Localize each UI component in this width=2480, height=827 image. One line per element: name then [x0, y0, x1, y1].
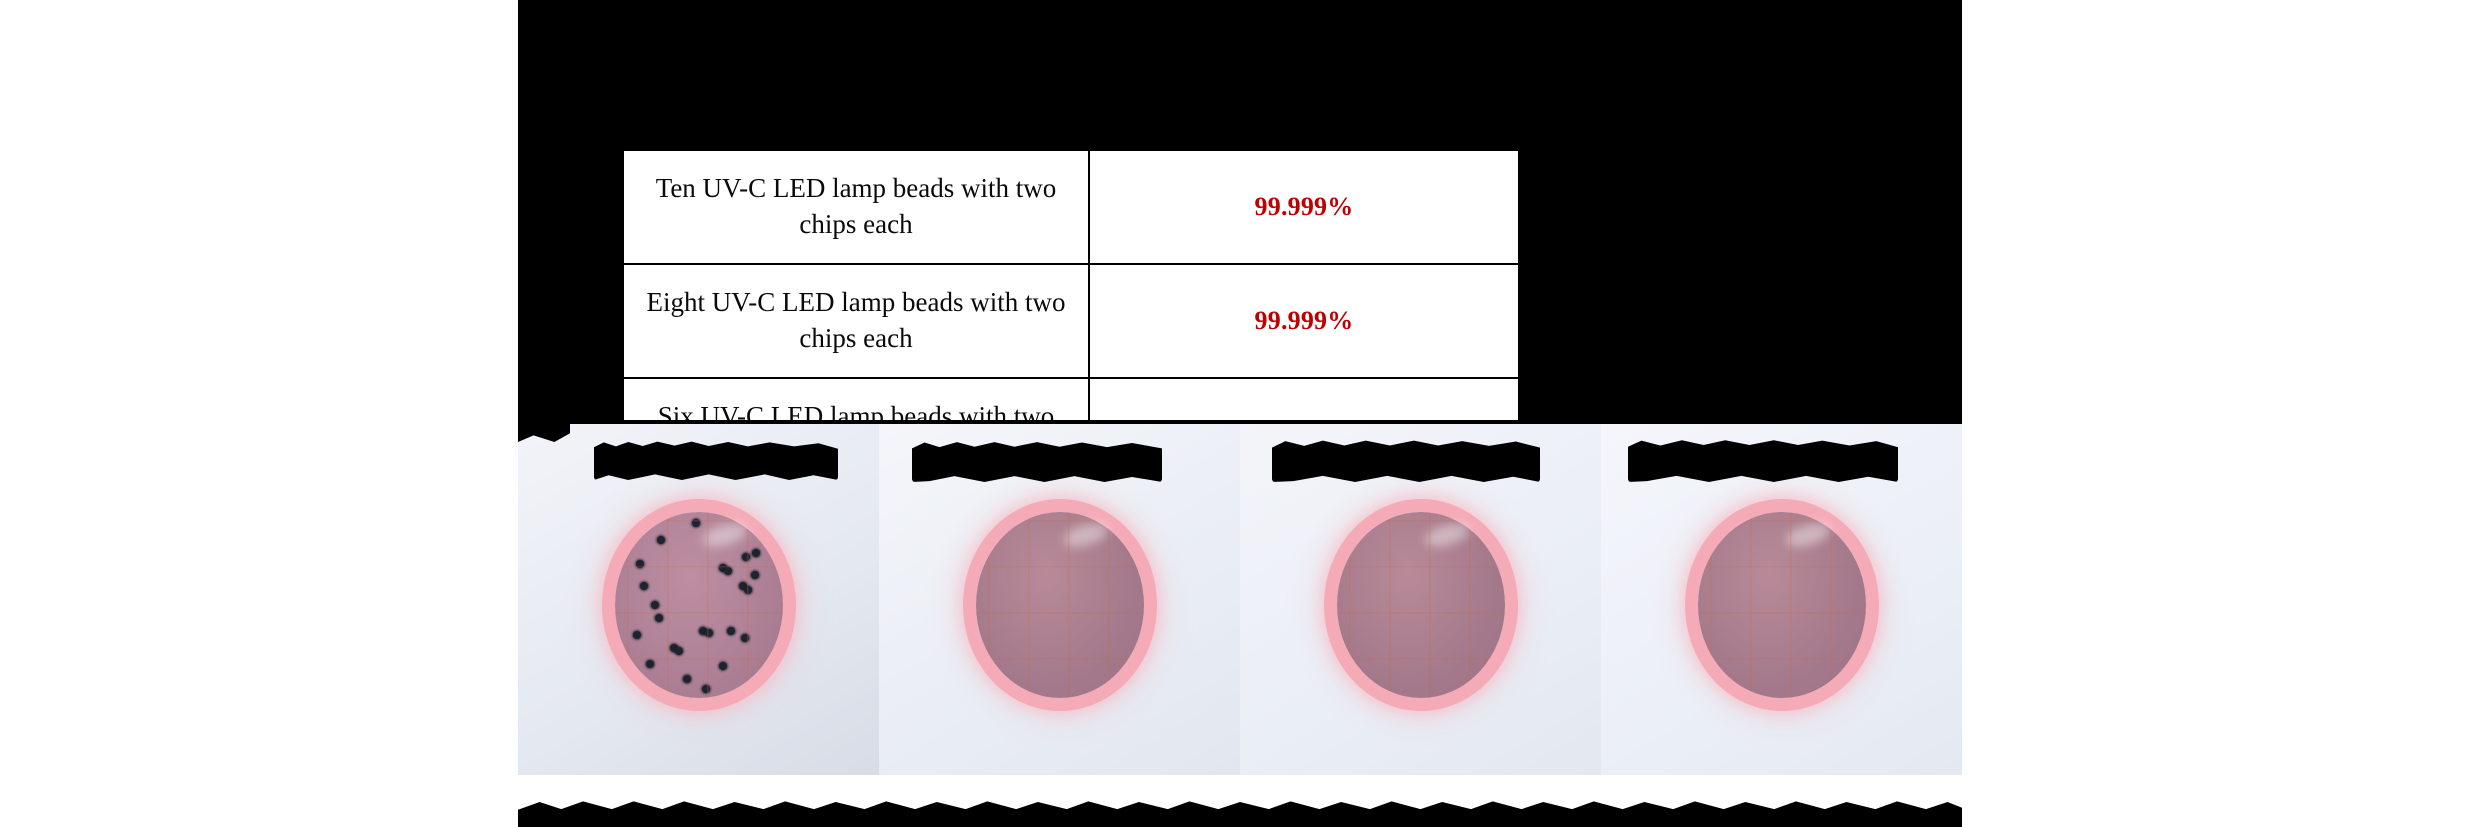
colony	[683, 675, 691, 683]
dish-glare	[1422, 519, 1472, 551]
colony	[719, 564, 727, 572]
colony	[646, 660, 654, 668]
table-cell-rate: 99.999%	[1089, 264, 1519, 378]
colony	[751, 571, 759, 579]
colony	[752, 549, 760, 557]
redacted-caption-3	[1272, 438, 1540, 482]
colony	[675, 647, 683, 655]
petri-dish-icon	[615, 512, 783, 698]
colony	[702, 685, 710, 693]
colony	[670, 644, 678, 652]
table-row: Ten UV-C LED lamp beads with two chips e…	[623, 150, 1519, 264]
colony	[727, 627, 735, 635]
table-cell-description: Ten UV-C LED lamp beads with two chips e…	[623, 150, 1089, 264]
colony	[655, 614, 663, 622]
colony	[699, 627, 707, 635]
redacted-caption-4	[1628, 438, 1898, 482]
colony	[744, 586, 752, 594]
table-cell-rate: 99.999%	[1089, 150, 1519, 264]
colony	[724, 567, 732, 575]
colony	[636, 560, 644, 568]
colony	[742, 553, 750, 561]
colony	[651, 601, 659, 609]
colony	[640, 582, 648, 590]
figure-page: Ten UV-C LED lamp beads with two chips e…	[0, 0, 2480, 827]
redaction-notch-left	[518, 420, 1962, 424]
colony	[705, 629, 713, 637]
colony	[739, 582, 747, 590]
colony	[692, 519, 700, 527]
colony	[741, 634, 749, 642]
dish-glare	[1061, 519, 1111, 551]
table-row: Eight UV-C LED lamp beads with two chips…	[623, 264, 1519, 378]
dish-glare	[700, 519, 750, 551]
page-bottom-white-band	[566, 775, 1966, 805]
colony	[633, 631, 641, 639]
petri-dish-icon	[1698, 512, 1866, 698]
petri-dish-icon	[976, 512, 1144, 698]
table-cell-description: Eight UV-C LED lamp beads with two chips…	[623, 264, 1089, 378]
dish-glare	[1783, 519, 1833, 551]
redacted-caption-1	[594, 440, 838, 480]
petri-dish-icon	[1337, 512, 1505, 698]
colony	[657, 536, 665, 544]
colony	[719, 662, 727, 670]
redacted-caption-2	[912, 440, 1162, 482]
